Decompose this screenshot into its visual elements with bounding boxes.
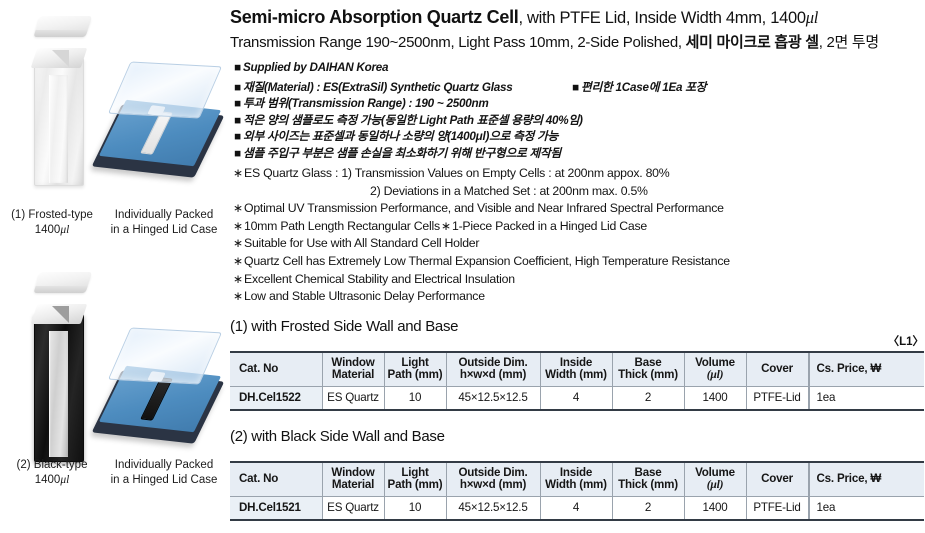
td-inside-width: 4 (540, 386, 612, 410)
square-bullet-icon: ■ (234, 97, 243, 110)
hinged-lid-case-frosted (100, 62, 220, 182)
spec-table-frosted-wrapper: Cat. No WindowMaterial LightPath (mm) Ou… (230, 351, 924, 411)
square-bullet-icon: ■ (572, 81, 581, 94)
square-bullet-text: 샘플 주입구 부분은 샘플 손실을 최소화하기 위해 반구형으로 제작됨 (243, 147, 561, 160)
asterisk-item: ∗10mm Path Length Rectangular Cells ∗1-P… (233, 219, 923, 237)
asterisk-secondary: ∗1-Piece Packed in a Hinged Lid Case (441, 219, 647, 233)
th-cs-price: Cs. Price, ₩ (808, 352, 924, 386)
caption-cell-black-line1: (2) Black-type (6, 458, 98, 473)
asterisk-icon: ∗ (233, 272, 244, 286)
th-outside-dim: Outside Dim.h×w×d (mm) (446, 462, 540, 496)
caption-case-frosted-line1: Individually Packed (102, 208, 226, 223)
th-volume: Volume(μl) (684, 462, 746, 496)
spec-table-frosted: Cat. No WindowMaterial LightPath (mm) Ou… (230, 351, 924, 411)
cuvette-body-black (34, 314, 84, 462)
asterisk-item: ∗Quartz Cell has Extremely Low Thermal E… (233, 254, 923, 272)
spec-table-black-wrapper: Cat. No WindowMaterial LightPath (mm) Ou… (230, 461, 924, 521)
asterisk-icon: ∗ (233, 236, 244, 250)
asterisk-icon: ∗ (233, 289, 244, 303)
td-base-thick: 2 (612, 386, 684, 410)
cuvette-lid-black (34, 272, 92, 292)
caption-cell-black: (2) Black-type 1400μl (6, 458, 98, 488)
cuvette-bevel (52, 50, 69, 67)
square-bullet-icon: ■ (234, 81, 243, 94)
product-image-column: (1) Frosted-type 1400μl Individually Pac… (0, 0, 228, 533)
th-base-thick: BaseThick (mm) (612, 352, 684, 386)
caption-case-black-line1: Individually Packed (102, 458, 226, 473)
caption-cell-black-line2: 1400μl (6, 473, 98, 488)
th-cs-price: Cs. Price, ₩ (808, 462, 924, 496)
hinged-lid-case-black (100, 328, 220, 448)
cuvette-bevel-black (52, 306, 69, 323)
td-base-thick: 2 (612, 496, 684, 520)
td-window-material: ES Quartz (322, 496, 384, 520)
th-cover: Cover (746, 352, 808, 386)
asterisk-text: 2) Deviations in a Matched Set : at 200n… (370, 184, 648, 198)
asterisk-text: Optimal UV Transmission Performance, and… (244, 201, 724, 215)
asterisk-item-continued: 2) Deviations in a Matched Set : at 200n… (233, 184, 923, 202)
product-title-line2: Transmission Range 190~2500nm, Light Pas… (230, 31, 879, 52)
asterisk-icon: ∗ (233, 219, 244, 233)
section-heading-black: (2) with Black Side Wall and Base (230, 428, 445, 445)
asterisk-text: 10mm Path Length Rectangular Cells (244, 219, 440, 233)
spec-table-black: Cat. No WindowMaterial LightPath (mm) Ou… (230, 461, 924, 521)
asterisk-secondary-text: 1-Piece Packed in a Hinged Lid Case (452, 219, 647, 233)
product-subtitle-tail: , 2면 투명 (819, 34, 879, 51)
td-cover: PTFE-Lid (746, 496, 808, 520)
td-volume: 1400 (684, 496, 746, 520)
asterisk-bullet-list: ∗ES Quartz Glass : 1) Transmission Value… (233, 166, 923, 307)
square-bullet-icon: ■ (234, 147, 243, 160)
td-outside-dim: 45×12.5×12.5 (446, 386, 540, 410)
product-figure-frosted: (1) Frosted-type 1400μl Individually Pac… (0, 0, 228, 250)
td-light-path: 10 (384, 496, 446, 520)
table-row: DH.Cel1521 ES Quartz 10 45×12.5×12.5 4 2… (230, 496, 924, 520)
th-volume: Volume(μl) (684, 352, 746, 386)
product-subtitle-en: Transmission Range 190~2500nm, Light Pas… (230, 34, 686, 51)
square-bullet-text: 외부 사이즈는 표준셀과 동일하나 소량의 양(1400μl)으로 측정 가능 (243, 130, 558, 143)
th-cat-no: Cat. No (230, 462, 322, 496)
product-title-rest: , with PTFE Lid, Inside Width 4mm, 1400 (518, 9, 805, 27)
square-bullet-list: ■Supplied by DAIHAN Korea ■재질(Material) … (234, 61, 924, 161)
square-bullet-text: 적은 양의 샘플로도 측정 가능(동일한 Light Path 표준셀 용량의 … (243, 114, 583, 127)
square-bullet-item: ■재질(Material) : ES(ExtraSil) Synthetic Q… (234, 78, 924, 95)
caption-case-black-line2: in a Hinged Lid Case (102, 473, 226, 488)
page-reference-mark: 〈L1〉 (888, 333, 924, 349)
asterisk-text: ES Quartz Glass : 1) Transmission Values… (244, 166, 669, 180)
caption-case-frosted: Individually Packed in a Hinged Lid Case (102, 208, 226, 238)
td-outside-dim: 45×12.5×12.5 (446, 496, 540, 520)
asterisk-text: Low and Stable Ultrasonic Delay Performa… (244, 289, 485, 303)
square-bullet-item: ■샘플 주입구 부분은 샘플 손실을 최소화하기 위해 반구형으로 제작됨 (234, 144, 924, 161)
square-bullet-icon: ■ (234, 61, 243, 74)
cuvette-frosted-illustration (28, 16, 98, 191)
cuvette-lid-frosted (34, 16, 92, 36)
table-row: DH.Cel1522 ES Quartz 10 45×12.5×12.5 4 2… (230, 386, 924, 410)
asterisk-item: ∗ES Quartz Glass : 1) Transmission Value… (233, 166, 923, 184)
th-inside-width: InsideWidth (mm) (540, 352, 612, 386)
asterisk-icon: ∗ (233, 201, 244, 215)
th-light-path: LightPath (mm) (384, 462, 446, 496)
td-cs-price: 1ea (808, 386, 924, 410)
caption-cell-frosted-line1: (1) Frosted-type (6, 208, 98, 223)
spec-table-header-row: Cat. No WindowMaterial LightPath (mm) Ou… (230, 462, 924, 496)
cuvette-black-illustration (28, 272, 98, 452)
td-window-material: ES Quartz (322, 386, 384, 410)
asterisk-item: ∗Low and Stable Ultrasonic Delay Perform… (233, 289, 923, 307)
square-bullet-secondary-text: 편리한 1Case에 1Ea 포장 (581, 81, 706, 94)
asterisk-icon: ∗ (233, 254, 244, 268)
asterisk-icon: ∗ (441, 219, 452, 233)
td-light-path: 10 (384, 386, 446, 410)
square-bullet-item: ■외부 사이즈는 표준셀과 동일하나 소량의 양(1400μl)으로 측정 가능 (234, 127, 924, 144)
td-inside-width: 4 (540, 496, 612, 520)
cuvette-optical-window-black (49, 331, 68, 457)
th-light-path: LightPath (mm) (384, 352, 446, 386)
th-base-thick: BaseThick (mm) (612, 462, 684, 496)
square-bullet-text: 재질(Material) : ES(ExtraSil) Synthetic Qu… (243, 81, 512, 94)
asterisk-text: Excellent Chemical Stability and Electri… (244, 272, 515, 286)
asterisk-text: Quartz Cell has Extremely Low Thermal Ex… (244, 254, 730, 268)
spec-table-header-row: Cat. No WindowMaterial LightPath (mm) Ou… (230, 352, 924, 386)
td-cat-no: DH.Cel1522 (230, 386, 322, 410)
asterisk-item: ∗Optimal UV Transmission Performance, an… (233, 201, 923, 219)
product-description-column: Semi-micro Absorption Quartz Cell, with … (230, 0, 925, 533)
cuvette-body-frosted (34, 58, 84, 186)
section-heading-frosted: (1) with Frosted Side Wall and Base (230, 318, 458, 335)
caption-cell-frosted: (1) Frosted-type 1400μl (6, 208, 98, 238)
caption-case-frosted-line2: in a Hinged Lid Case (102, 223, 226, 238)
asterisk-item: ∗Suitable for Use with All Standard Cell… (233, 236, 923, 254)
td-cat-no: DH.Cel1521 (230, 496, 322, 520)
th-inside-width: InsideWidth (mm) (540, 462, 612, 496)
product-title-unit: μl (806, 8, 818, 27)
square-bullet-item: ■투과 범위(Transmission Range) : 190 ~ 2500n… (234, 94, 924, 111)
caption-case-black: Individually Packed in a Hinged Lid Case (102, 458, 226, 488)
square-bullet-text: Supplied by DAIHAN Korea (243, 61, 388, 74)
cuvette-optical-window (49, 75, 68, 183)
th-cover: Cover (746, 462, 808, 496)
product-title-line1: Semi-micro Absorption Quartz Cell, with … (230, 7, 818, 28)
square-bullet-icon: ■ (234, 130, 243, 143)
th-outside-dim: Outside Dim.h×w×d (mm) (446, 352, 540, 386)
asterisk-item: ∗Excellent Chemical Stability and Electr… (233, 272, 923, 290)
square-bullet-icon: ■ (234, 114, 243, 127)
square-bullet-text: 투과 범위(Transmission Range) : 190 ~ 2500nm (243, 97, 489, 110)
catalog-page: (1) Frosted-type 1400μl Individually Pac… (0, 0, 925, 533)
th-window-material: WindowMaterial (322, 462, 384, 496)
td-volume: 1400 (684, 386, 746, 410)
asterisk-text: Suitable for Use with All Standard Cell … (244, 236, 479, 250)
th-window-material: WindowMaterial (322, 352, 384, 386)
square-bullet-item: ■적은 양의 샘플로도 측정 가능(동일한 Light Path 표준셀 용량의… (234, 111, 924, 128)
product-title-main: Semi-micro Absorption Quartz Cell (230, 7, 518, 27)
th-cat-no: Cat. No (230, 352, 322, 386)
td-cover: PTFE-Lid (746, 386, 808, 410)
asterisk-icon: ∗ (233, 166, 244, 180)
caption-cell-frosted-line2: 1400μl (6, 223, 98, 238)
td-cs-price: 1ea (808, 496, 924, 520)
product-subtitle-ko: 세미 마이크로 흡광 셀 (686, 34, 819, 51)
square-bullet-secondary: ■편리한 1Case에 1Ea 포장 (572, 78, 706, 95)
product-figure-black: (2) Black-type 1400μl Individually Packe… (0, 250, 228, 533)
square-bullet-item: ■Supplied by DAIHAN Korea (234, 61, 924, 78)
